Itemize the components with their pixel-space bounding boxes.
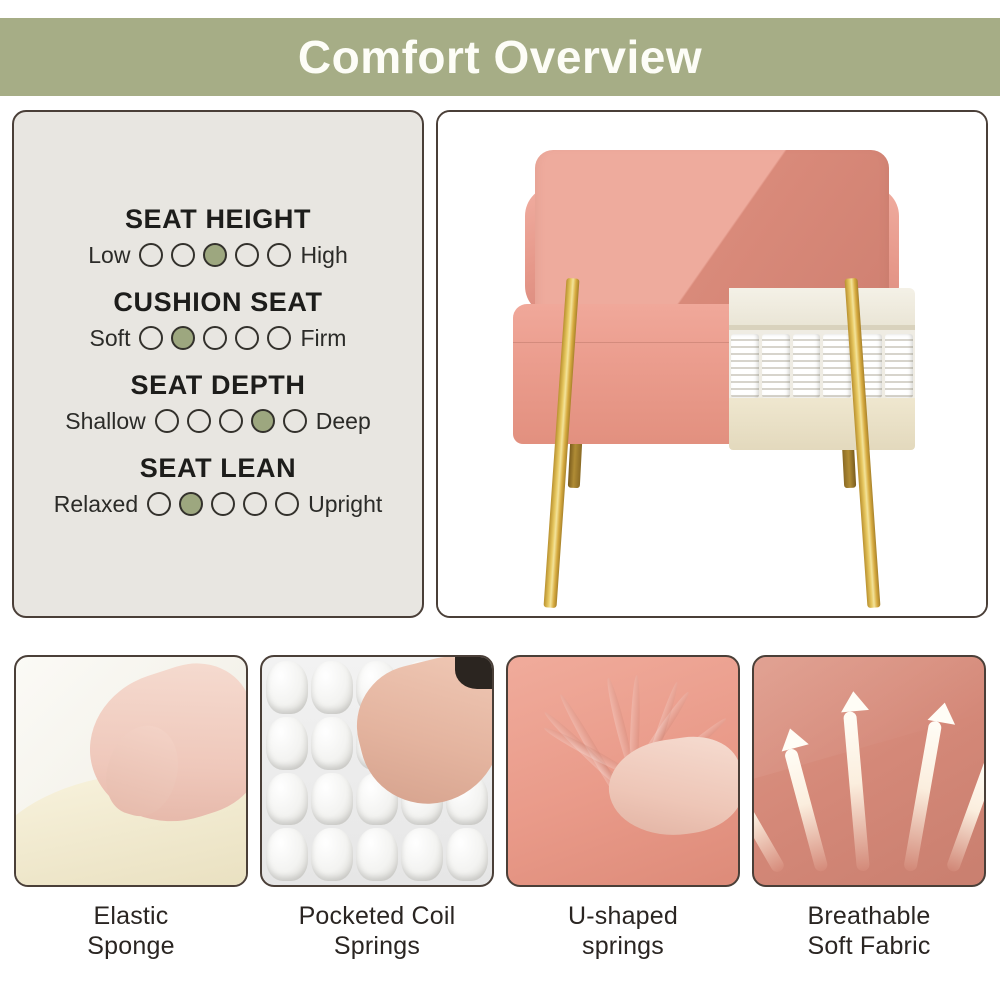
feature-card-u-shaped-springs: U-shaped springs <box>506 655 740 1000</box>
rating-dot[interactable] <box>283 409 307 433</box>
coil-spring <box>311 828 353 881</box>
feature-caption-pocketed-coil-springs: Pocketed Coil Springs <box>299 901 456 961</box>
cutaway-base-layer <box>729 398 915 450</box>
rating-dot[interactable] <box>235 243 259 267</box>
scale-high-label: Upright <box>308 493 382 516</box>
feature-card-elastic-sponge: Elastic Sponge <box>14 655 248 1000</box>
rating-dot[interactable] <box>219 409 243 433</box>
rating-dots <box>139 326 291 350</box>
feature-image-u-shaped-springs <box>506 655 740 887</box>
arrow-stem <box>903 721 942 873</box>
rating-dot[interactable] <box>155 409 179 433</box>
rating-group: CUSHION SEATSoftFirm <box>14 289 422 350</box>
coil-spring <box>266 828 308 881</box>
arrow-stem <box>752 771 787 874</box>
feature-caption-breathable-soft-fabric: Breathable Soft Fabric <box>807 901 930 961</box>
rating-dot[interactable] <box>275 492 299 516</box>
hero-stage <box>438 112 986 616</box>
rating-scale: ShallowDeep <box>14 409 422 433</box>
coil-spring <box>266 717 308 770</box>
rating-dot[interactable] <box>267 243 291 267</box>
coil-spring <box>356 828 398 881</box>
caption-line-2: Soft Fabric <box>807 932 930 960</box>
caption-line-2: springs <box>582 932 664 960</box>
scale-low-label: Low <box>88 244 130 267</box>
cutaway-foam-layer <box>729 288 915 330</box>
rating-title: SEAT HEIGHT <box>125 206 311 233</box>
rating-dot[interactable] <box>139 326 163 350</box>
feature-caption-u-shaped-springs: U-shaped springs <box>568 901 678 961</box>
arrow-stem <box>945 758 986 873</box>
rating-dot-selected[interactable] <box>251 409 275 433</box>
scale-high-label: Deep <box>316 410 371 433</box>
coil-spring <box>311 717 353 770</box>
rating-title: CUSHION SEAT <box>113 289 322 316</box>
top-section: SEAT HEIGHTLowHighCUSHION SEATSoftFirmSE… <box>0 110 1000 620</box>
rating-dot-selected[interactable] <box>203 243 227 267</box>
rating-group: SEAT LEANRelaxedUpright <box>14 455 422 516</box>
coil-spring <box>401 828 443 881</box>
scale-high-label: High <box>300 244 347 267</box>
caption-line-1: Pocketed Coil <box>299 902 456 930</box>
rating-title: SEAT DEPTH <box>130 372 305 399</box>
rating-dot[interactable] <box>267 326 291 350</box>
cutaway-coil-layer <box>729 330 915 398</box>
feature-image-breathable-soft-fabric <box>752 655 986 887</box>
feature-card-pocketed-coil-springs: Pocketed Coil Springs <box>260 655 494 1000</box>
coil-spring <box>793 334 821 398</box>
hero-product-image-panel <box>436 110 988 618</box>
coil-spring <box>311 773 353 826</box>
feature-highlights-row: Elastic Sponge Pocketed Coil Springs U-s… <box>0 655 1000 1000</box>
rating-scale: LowHigh <box>14 243 422 267</box>
rating-dot[interactable] <box>147 492 171 516</box>
rating-dot-selected[interactable] <box>171 326 195 350</box>
feature-card-breathable-soft-fabric: Breathable Soft Fabric <box>752 655 986 1000</box>
arrow-head <box>840 690 870 712</box>
coil-spring <box>446 828 488 881</box>
caption-line-1: U-shaped <box>568 902 678 930</box>
feature-image-elastic-sponge <box>14 655 248 887</box>
seat-cutaway-diagram <box>729 288 915 450</box>
scale-low-label: Relaxed <box>54 493 138 516</box>
coil-spring <box>823 334 851 398</box>
rating-scale: RelaxedUpright <box>14 492 422 516</box>
feature-image-pocketed-coil-springs <box>260 655 494 887</box>
coil-spring <box>885 334 913 398</box>
rating-dots <box>147 492 299 516</box>
header-banner: Comfort Overview <box>0 18 1000 96</box>
coil-spring <box>266 661 308 714</box>
rating-dot[interactable] <box>171 243 195 267</box>
rating-group: SEAT DEPTHShallowDeep <box>14 372 422 433</box>
airflow-arrow-icon <box>943 739 986 874</box>
rating-title: SEAT LEAN <box>140 455 296 482</box>
rating-dots <box>155 409 307 433</box>
caption-line-1: Breathable <box>808 902 931 930</box>
coil-spring <box>311 661 353 714</box>
comfort-ratings-panel: SEAT HEIGHTLowHighCUSHION SEATSoftFirmSE… <box>12 110 424 618</box>
caption-line-2: Springs <box>334 932 420 960</box>
rating-dot[interactable] <box>139 243 163 267</box>
rating-dot-selected[interactable] <box>179 492 203 516</box>
rating-dot[interactable] <box>203 326 227 350</box>
arrow-stem <box>783 748 828 873</box>
scale-high-label: Firm <box>300 327 346 350</box>
rating-dots <box>139 243 291 267</box>
scale-low-label: Soft <box>90 327 131 350</box>
rating-dot[interactable] <box>211 492 235 516</box>
rating-dot[interactable] <box>243 492 267 516</box>
feature-caption-elastic-sponge: Elastic Sponge <box>87 901 174 961</box>
scale-low-label: Shallow <box>65 410 146 433</box>
caption-line-2: Sponge <box>87 932 174 960</box>
rating-dot[interactable] <box>235 326 259 350</box>
rating-group: SEAT HEIGHTLowHigh <box>14 206 422 267</box>
page-title: Comfort Overview <box>298 34 702 80</box>
caption-line-1: Elastic <box>93 902 168 930</box>
coil-spring <box>762 334 790 398</box>
accent-chair-illustration <box>477 128 947 608</box>
coil-spring <box>731 334 759 398</box>
coil-spring <box>266 773 308 826</box>
rating-dot[interactable] <box>187 409 211 433</box>
rating-scale: SoftFirm <box>14 326 422 350</box>
